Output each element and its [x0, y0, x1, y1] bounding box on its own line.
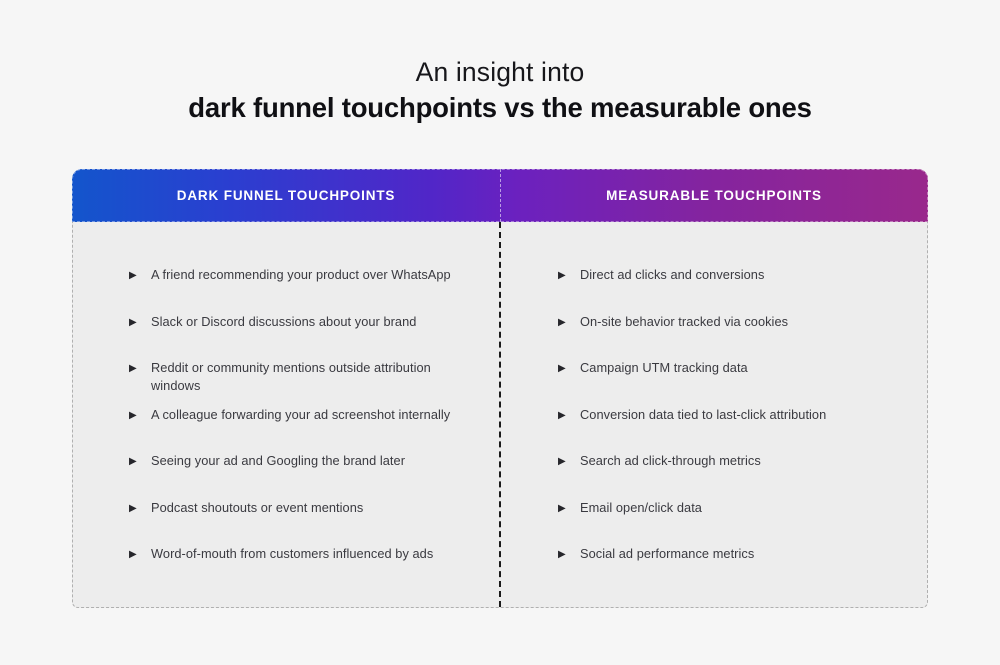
list-item: ▶ Podcast shoutouts or event mentions [129, 499, 466, 546]
comparison-card-header: DARK FUNNEL TOUCHPOINTS MEASURABLE TOUCH… [72, 169, 928, 222]
triangle-right-icon: ▶ [129, 452, 151, 470]
column-measurable: ▶ Direct ad clicks and conversions ▶ On-… [500, 222, 927, 607]
list-item-label: Search ad click-through metrics [580, 452, 761, 470]
list-item-label: Reddit or community mentions outside att… [151, 359, 451, 394]
triangle-right-icon: ▶ [558, 266, 580, 284]
comparison-card: DARK FUNNEL TOUCHPOINTS MEASURABLE TOUCH… [72, 169, 928, 608]
list-item-label: Social ad performance metrics [580, 545, 754, 563]
triangle-right-icon: ▶ [558, 406, 580, 424]
list-item: ▶ Search ad click-through metrics [558, 452, 897, 499]
column-header-label-left: DARK FUNNEL TOUCHPOINTS [177, 188, 396, 203]
list-item-label: A friend recommending your product over … [151, 266, 451, 284]
page-title: An insight into dark funnel touchpoints … [0, 55, 1000, 126]
list-item: ▶ Conversion data tied to last-click att… [558, 406, 897, 453]
list-item-label: On-site behavior tracked via cookies [580, 313, 788, 331]
triangle-right-icon: ▶ [129, 499, 151, 517]
list-item-label: Direct ad clicks and conversions [580, 266, 764, 284]
list-item-label: Word-of-mouth from customers influenced … [151, 545, 433, 563]
column-header-label-right: MEASURABLE TOUCHPOINTS [606, 188, 822, 203]
column-divider [499, 222, 501, 607]
title-line-2: dark funnel touchpoints vs the measurabl… [0, 90, 1000, 126]
list-item: ▶ Reddit or community mentions outside a… [129, 359, 466, 406]
column-dark-funnel: ▶ A friend recommending your product ove… [73, 222, 500, 607]
list-item: ▶ Word-of-mouth from customers influence… [129, 545, 466, 592]
list-item-label: Conversion data tied to last-click attri… [580, 406, 826, 424]
list-item: ▶ Slack or Discord discussions about you… [129, 313, 466, 360]
triangle-right-icon: ▶ [558, 359, 580, 377]
triangle-right-icon: ▶ [129, 313, 151, 331]
comparison-card-body: ▶ A friend recommending your product ove… [72, 222, 928, 608]
triangle-right-icon: ▶ [558, 499, 580, 517]
list-item: ▶ Seeing your ad and Googling the brand … [129, 452, 466, 499]
header-cell-measurable: MEASURABLE TOUCHPOINTS [500, 169, 928, 222]
triangle-right-icon: ▶ [558, 452, 580, 470]
list-item-label: Podcast shoutouts or event mentions [151, 499, 363, 517]
header-cell-dark-funnel: DARK FUNNEL TOUCHPOINTS [72, 169, 500, 222]
triangle-right-icon: ▶ [129, 266, 151, 284]
list-item-label: Email open/click data [580, 499, 702, 517]
triangle-right-icon: ▶ [558, 545, 580, 563]
list-item: ▶ A colleague forwarding your ad screens… [129, 406, 466, 453]
list-item: ▶ Campaign UTM tracking data [558, 359, 897, 406]
list-item: ▶ Email open/click data [558, 499, 897, 546]
list-item: ▶ A friend recommending your product ove… [129, 266, 466, 313]
triangle-right-icon: ▶ [129, 359, 151, 377]
triangle-right-icon: ▶ [129, 406, 151, 424]
list-item: ▶ Social ad performance metrics [558, 545, 897, 592]
list-item: ▶ On-site behavior tracked via cookies [558, 313, 897, 360]
list-item-label: Slack or Discord discussions about your … [151, 313, 416, 331]
list-item-label: A colleague forwarding your ad screensho… [151, 406, 450, 424]
list-item-label: Campaign UTM tracking data [580, 359, 748, 377]
page-root: An insight into dark funnel touchpoints … [0, 0, 1000, 665]
triangle-right-icon: ▶ [558, 313, 580, 331]
title-line-1: An insight into [0, 55, 1000, 89]
triangle-right-icon: ▶ [129, 545, 151, 563]
list-item: ▶ Direct ad clicks and conversions [558, 266, 897, 313]
list-item-label: Seeing your ad and Googling the brand la… [151, 452, 405, 470]
